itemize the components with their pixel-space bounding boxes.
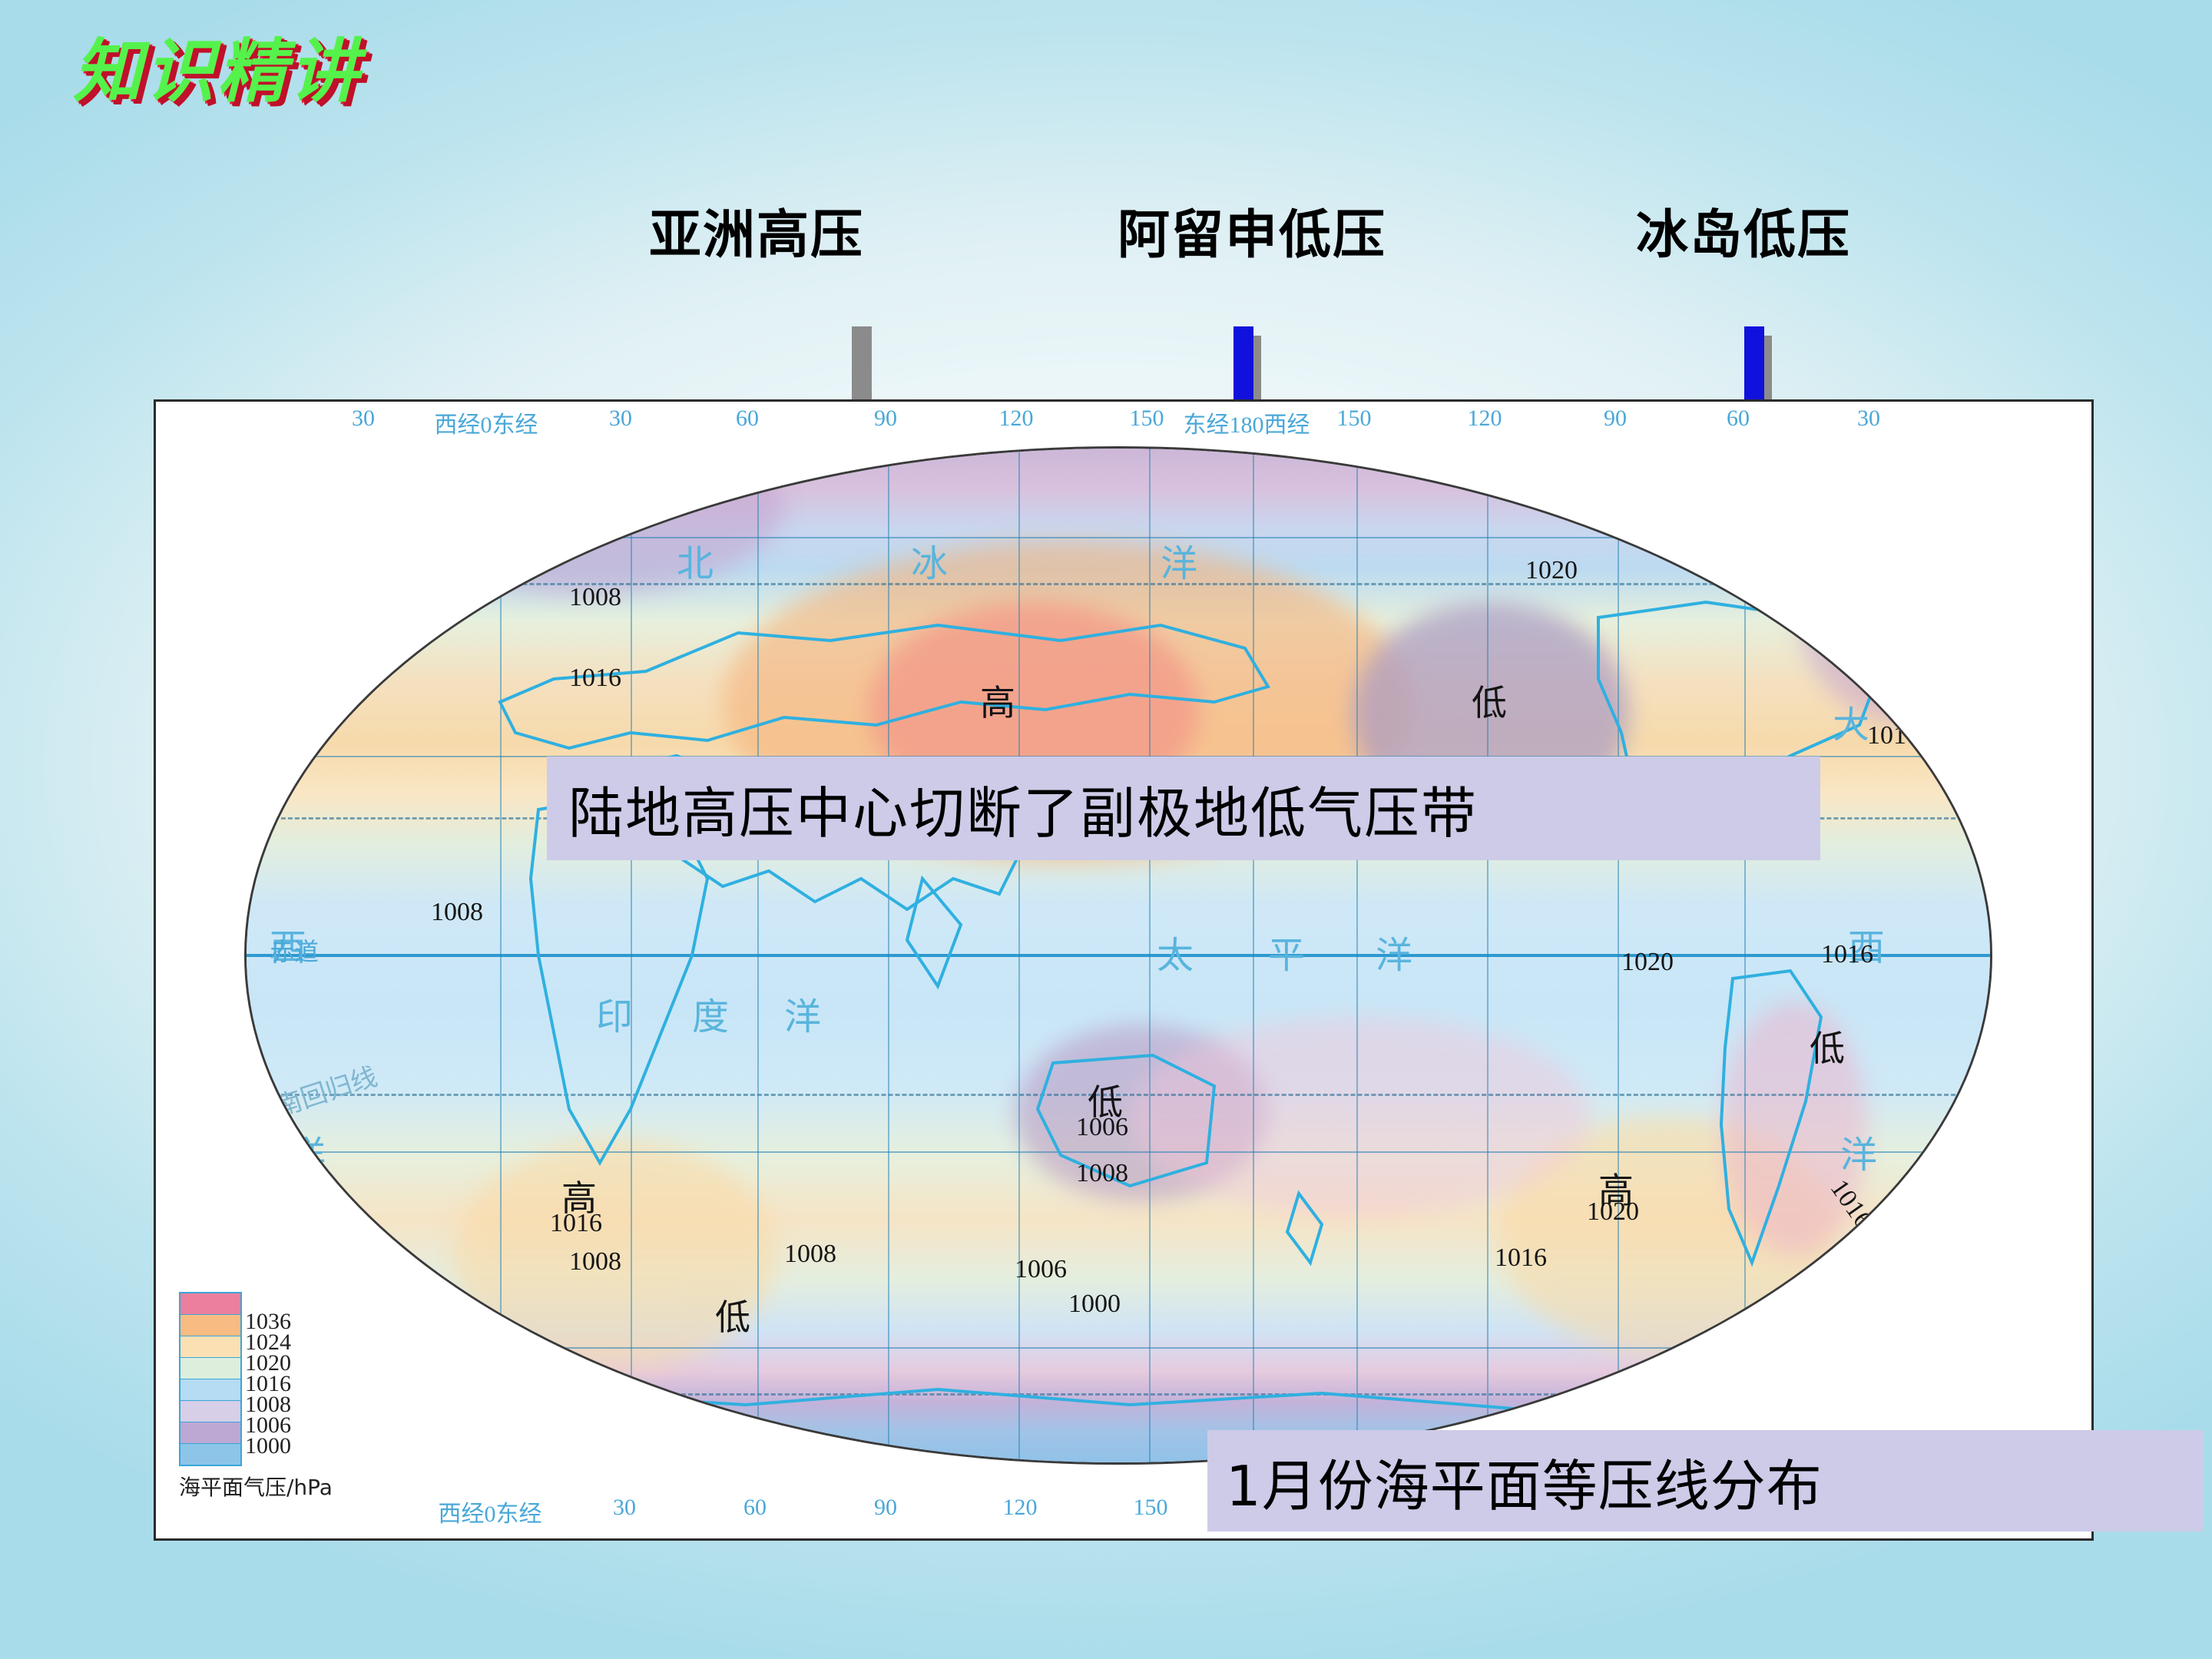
ocean-label-pacific-ping: 平 xyxy=(1268,925,1322,979)
ocean-label-arctic-yang: 洋 xyxy=(1161,533,1214,587)
axis-tick: 30 xyxy=(613,1495,636,1521)
isobar-label: 1016 xyxy=(550,1209,602,1238)
ocean-label-indian-du: 度 xyxy=(692,986,746,1040)
axis-tick: 120 xyxy=(1468,406,1502,432)
ocean-label-pacific-tai: 太 xyxy=(1157,925,1210,979)
ocean-label-indian-yang: 洋 xyxy=(784,986,838,1040)
isobar-label: 1000 xyxy=(1068,1290,1121,1319)
ocean-label-atlantic-yang-right: 洋 xyxy=(1840,1124,1894,1178)
axis-tick: 150 xyxy=(1337,406,1372,432)
globe-projection: 北 冰 洋 大 西 洋 印 度 洋 太 平 洋 大 西 洋 北极圈 南回归线 南… xyxy=(244,446,1992,1465)
pressure-center-asia-high: 高 xyxy=(980,675,1015,726)
lat-tick-60n-right: 60 xyxy=(1871,522,1896,550)
axis-tick: 西经0东经 xyxy=(439,1495,542,1528)
ocean-label-pacific-yang: 洋 xyxy=(1376,925,1429,979)
legend-swatches xyxy=(179,1292,242,1466)
ocean-label-indian-yin: 印 xyxy=(596,986,650,1040)
equator-label: 赤道 xyxy=(270,932,319,968)
isobar-label: 1016 xyxy=(1495,1243,1547,1273)
isobar-label: 1020 xyxy=(1587,1197,1639,1227)
pressure-center-antarctic-low: 低 xyxy=(715,1290,750,1340)
map-legend: 1036 1024 1020 1016 1008 1006 1000 海平面气压… xyxy=(179,1292,371,1502)
legend-value: 1000 xyxy=(245,1435,291,1456)
pressure-center-iceland-low: 低 xyxy=(1848,568,1883,618)
pressure-center-south-america-low: 低 xyxy=(1810,1021,1845,1071)
legend-swatch xyxy=(180,1336,240,1358)
pressure-center-aleutian-low: 低 xyxy=(1472,675,1507,726)
legend-swatch xyxy=(180,1401,240,1422)
isobar-label: 1008 xyxy=(569,583,621,612)
axis-tick: 30 xyxy=(352,406,375,432)
axis-tick: 120 xyxy=(999,406,1034,432)
legend-swatch xyxy=(180,1422,240,1444)
legend-caption: 海平面气压/hPa xyxy=(179,1471,371,1502)
axis-tick: 60 xyxy=(743,1495,767,1521)
ocean-label-arctic-bei: 北 xyxy=(677,533,730,587)
axis-tick: 150 xyxy=(1130,406,1164,432)
isobar-label: 1020 xyxy=(1525,556,1578,585)
legend-swatch xyxy=(180,1358,240,1379)
legend-swatch xyxy=(180,1315,240,1336)
ocean-label-atlantic-da-left: 大 xyxy=(289,679,343,733)
legend-value: 1020 xyxy=(245,1353,291,1373)
isobar-label: 1016 xyxy=(1867,721,1919,750)
legend-value: 1006 xyxy=(245,1415,291,1435)
ocean-label-arctic-bing: 冰 xyxy=(911,533,965,587)
lat-tick-30s-right: 30 xyxy=(1940,1136,1965,1164)
legend-swatch xyxy=(180,1293,240,1315)
lat-tick-30s-left: 30 xyxy=(277,1136,302,1164)
map-axis-top: 30 西经0东经 30 60 90 120 150 东经180西经 150 12… xyxy=(156,406,2091,445)
annotation-banner-bottom: 1月份海平面等压线分布 xyxy=(1207,1430,2203,1532)
axis-tick: 90 xyxy=(874,1495,897,1521)
isobar-label: 1016 xyxy=(1821,940,1873,969)
callout-label-asia-high: 亚洲高压 xyxy=(649,192,864,268)
isobar-label: 1006 xyxy=(1015,1255,1067,1284)
isobar-label: 1008 xyxy=(569,1247,621,1277)
lat-tick-30n-left: 30 xyxy=(277,744,302,773)
legend-swatch xyxy=(180,1379,240,1401)
axis-tick: 120 xyxy=(1003,1495,1038,1521)
legend-value: 1016 xyxy=(245,1373,291,1394)
axis-tick: 东经180西经 xyxy=(1184,406,1310,439)
page-title: 知识精讲 xyxy=(73,15,362,115)
legend-value: 1008 xyxy=(245,1394,291,1415)
axis-tick: 30 xyxy=(609,406,632,432)
axis-tick: 60 xyxy=(1727,406,1750,432)
isobar-label: 1008 xyxy=(431,898,483,927)
pressure-map: 30 西经0东经 30 60 90 120 150 东经180西经 150 12… xyxy=(154,399,2094,1541)
legend-swatch xyxy=(180,1444,240,1465)
isobar-label: 1006 xyxy=(1076,1113,1128,1142)
axis-tick: 60 xyxy=(736,406,759,432)
legend-value: 1036 xyxy=(245,1311,291,1332)
annotation-banner-center: 陆地高压中心切断了副极地低气压带 xyxy=(547,757,1820,860)
axis-tick: 西经0东经 xyxy=(435,406,538,439)
axis-tick: 150 xyxy=(1134,1495,1168,1521)
legend-values: 1036 1024 1020 1016 1008 1006 1000 xyxy=(245,1311,291,1456)
lat-tick-30n-right: 30 xyxy=(1940,744,1965,773)
callout-label-aleutian-low: 阿留申低压 xyxy=(1118,192,1386,268)
axis-tick: 30 xyxy=(1857,406,1880,432)
isobar-label: 1008 xyxy=(784,1240,836,1269)
isobar-label: 1016 xyxy=(569,664,621,693)
isobar-label: 1006 xyxy=(331,598,383,628)
callout-label-iceland-low: 冰岛低压 xyxy=(1636,192,1851,268)
axis-tick: 90 xyxy=(1604,406,1627,432)
isobar-label: 1008 xyxy=(1875,644,1927,674)
isobar-label: 1020 xyxy=(1621,948,1674,977)
axis-tick: 90 xyxy=(874,406,897,432)
isobar-label: 1008 xyxy=(1076,1159,1128,1188)
lat-tick-60s-right: 60 xyxy=(1963,1343,1988,1372)
legend-value: 1024 xyxy=(245,1332,291,1353)
lat-tick-60n-left: 60 xyxy=(362,522,386,550)
